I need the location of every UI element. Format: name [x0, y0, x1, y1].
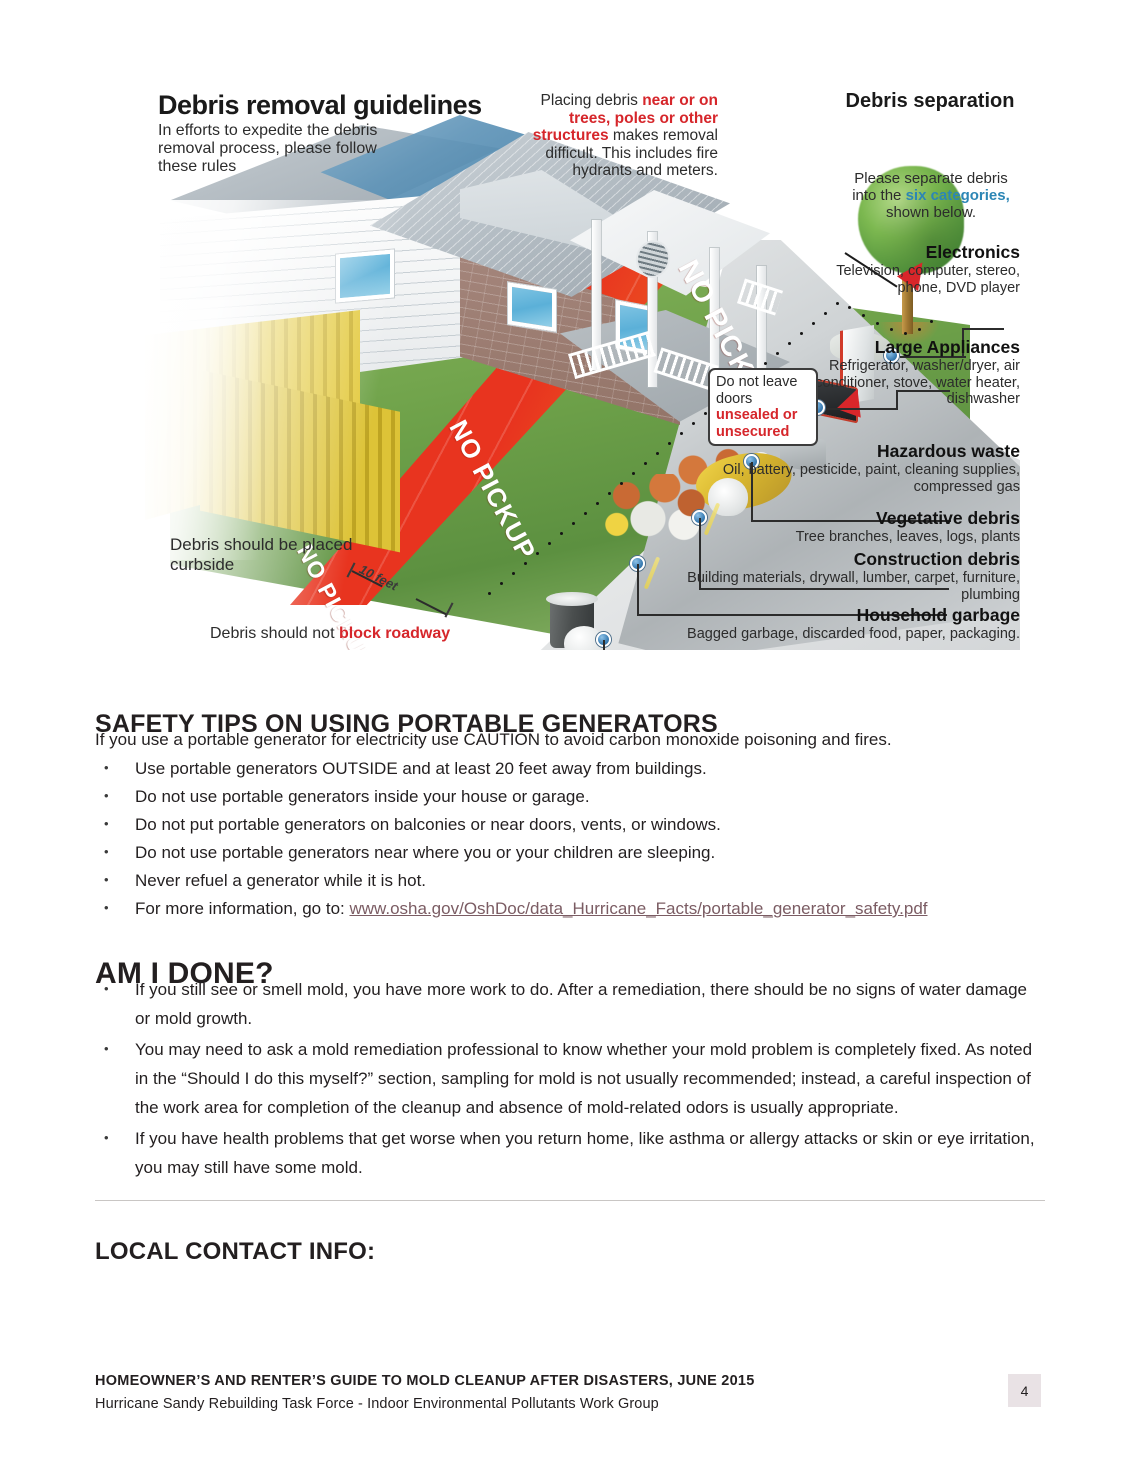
door-security-callout: Do not leave doors unsealed or unsecured	[708, 368, 818, 446]
am-i-done-list: If you still see or smell mold, you have…	[95, 975, 1035, 1184]
roadway-text-pre: Debris should not	[210, 625, 339, 642]
category-hazardous-waste: Hazardous waste Oil, battery, pesticide,…	[700, 441, 1020, 495]
category-items: Tree branches, leaves, logs, plants	[670, 529, 1020, 546]
debris-removal-infographic: NO PICKUP NO PICKUP NO PICKUP Debris rem…	[140, 70, 1020, 650]
list-item: If you still see or smell mold, you have…	[95, 975, 1035, 1033]
safety-tips-intro: If you use a portable generator for elec…	[95, 728, 1045, 751]
category-items: Building materials, drywall, lumber, car…	[640, 570, 1020, 603]
list-item: Use portable generators OUTSIDE and at l…	[95, 755, 1035, 782]
list-item: Do not use portable generators near wher…	[95, 839, 1035, 866]
more-info-label: For more information, go to:	[135, 899, 349, 918]
page-footer: HOMEOWNER’S AND RENTER’S GUIDE TO MOLD C…	[95, 1373, 755, 1412]
leader-line	[826, 408, 898, 410]
roadway-text-emphasis: block roadway	[339, 625, 450, 642]
category-heading: Large Appliances	[780, 337, 1020, 358]
category-construction-debris: Construction debris Building materials, …	[640, 549, 1020, 603]
category-heading: Vegetative debris	[670, 508, 1020, 529]
list-item: If you have health problems that get wor…	[95, 1124, 1035, 1182]
leader-line	[962, 328, 1004, 330]
list-item: Do not use portable generators inside yo…	[95, 783, 1035, 810]
osha-generator-safety-link[interactable]: www.osha.gov/OshDoc/data_Hurricane_Facts…	[349, 899, 927, 918]
category-heading: Electronics	[820, 242, 1020, 263]
page-number-badge: 4	[1008, 1374, 1041, 1407]
category-heading: Construction debris	[640, 549, 1020, 570]
sep-text-emphasis: six categories,	[906, 187, 1010, 204]
local-contact-info-heading: LOCAL CONTACT INFO:	[95, 1238, 375, 1266]
callout-text-pre: Do not leave doors	[716, 374, 797, 407]
category-items: Bagged garbage, discarded food, paper, p…	[580, 626, 1020, 643]
category-electronics: Electronics Television, computer, stereo…	[820, 242, 1020, 296]
trash-can-lid	[546, 592, 598, 606]
list-item: Do not put portable generators on balcon…	[95, 811, 1035, 838]
warning-text-pre: Placing debris	[541, 92, 643, 109]
footer-title: HOMEOWNER’S AND RENTER’S GUIDE TO MOLD C…	[95, 1373, 755, 1389]
callout-text-emphasis: unsealed or unsecured	[716, 407, 797, 440]
trees-poles-warning: Placing debris near or on trees, poles o…	[518, 92, 718, 180]
infographic-subtitle: In efforts to expedite the debris remova…	[158, 122, 408, 176]
debris-separation-body: Please separate debris into the six cate…	[842, 170, 1020, 221]
block-roadway-note: Debris should not block roadway	[210, 625, 540, 643]
curbside-note: Debris should be placed curbside	[170, 535, 360, 575]
category-items: Oil, battery, pesticide, paint, cleaning…	[700, 462, 1020, 495]
window	[508, 282, 556, 332]
section-divider	[95, 1200, 1045, 1201]
generator-safety-list: Use portable generators OUTSIDE and at l…	[95, 755, 1035, 923]
sep-text-post: shown below.	[886, 204, 976, 221]
list-item-with-link: For more information, go to: www.osha.go…	[95, 895, 1035, 922]
list-item: Never refuel a generator while it is hot…	[95, 867, 1035, 894]
category-heading: Household garbage	[580, 605, 1020, 626]
category-items: Television, computer, stereo, phone, DVD…	[820, 263, 1020, 296]
debris-separation-title: Debris separation	[840, 90, 1020, 113]
footer-subtitle: Hurricane Sandy Rebuilding Task Force - …	[95, 1396, 755, 1412]
infographic-title: Debris removal guidelines	[158, 90, 482, 121]
category-vegetative-debris: Vegetative debris Tree branches, leaves,…	[670, 508, 1020, 546]
category-household-garbage: Household garbage Bagged garbage, discar…	[580, 605, 1020, 643]
list-item: You may need to ask a mold remediation p…	[95, 1035, 1035, 1122]
